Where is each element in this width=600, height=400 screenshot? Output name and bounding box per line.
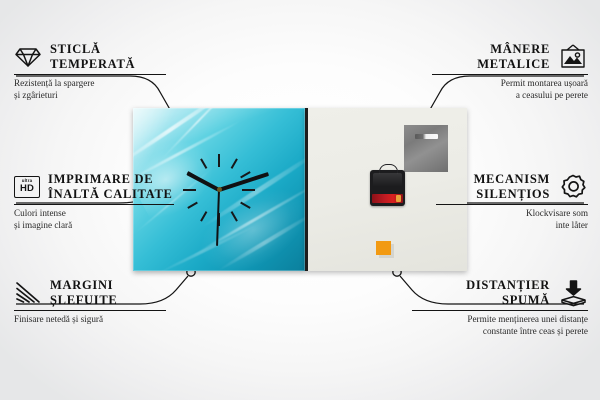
callout-title: MÂNERE METALICE (477, 42, 550, 71)
ultra-hd-badge-icon: ultra HD (14, 176, 40, 198)
callout-rule (436, 204, 588, 205)
callout-subtitle: Rezistență la spargere și zgârieturi (14, 78, 166, 101)
callout-title-line2: ȘLEFUITE (50, 293, 117, 308)
hanging-picture-frame-icon (558, 44, 588, 70)
infographic-canvas: STICLĂ TEMPERATĂ Rezistență la spargere … (0, 0, 600, 400)
callout-rule (412, 310, 588, 311)
clock-mechanism (370, 170, 405, 206)
callout-title-line1: MECANISM (474, 172, 550, 187)
callout-sticla-temperata: STICLĂ TEMPERATĂ Rezistență la spargere … (14, 42, 166, 101)
battery-terminal (396, 195, 401, 202)
callout-rule (14, 74, 166, 75)
diamond-icon (14, 45, 42, 69)
gear-icon (558, 173, 588, 201)
callout-title-line2: SPUMĂ (466, 293, 550, 308)
callout-title-line1: STICLĂ (50, 42, 135, 57)
callout-title-line1: MARGINI (50, 278, 117, 293)
callout-manere-metalice: MÂNERE METALICE Permit montarea ușoară a… (432, 42, 588, 101)
callout-title: DISTANȚIER SPUMĂ (466, 278, 550, 307)
product-image (133, 108, 467, 271)
callout-distantier-spuma: DISTANȚIER SPUMĂ Permite menținerea unei… (412, 278, 588, 337)
callout-header: DISTANȚIER SPUMĂ (412, 278, 588, 307)
callout-header: ultra HD IMPRIMARE DE ÎNALTĂ CALITATE (14, 172, 174, 201)
callout-title: IMPRIMARE DE ÎNALTĂ CALITATE (48, 172, 173, 201)
callout-imprimare-calitate: ultra HD IMPRIMARE DE ÎNALTĂ CALITATE Cu… (14, 172, 174, 231)
callout-title-line2: METALICE (477, 57, 550, 72)
foam-spacer (376, 241, 391, 255)
callout-title: MECANISM SILENȚIOS (474, 172, 550, 201)
hanger-slot (415, 134, 438, 139)
callout-mecanism-silentios: MECANISM SILENȚIOS Klockvisare som inte … (436, 172, 588, 231)
callout-subtitle: Finisare netedă și sigură (14, 314, 166, 325)
callout-subtitle: Permit montarea ușoară a ceasului pe per… (432, 78, 588, 101)
callout-subtitle: Permite menținerea unei distanțe constan… (412, 314, 588, 337)
callout-rule (432, 74, 588, 75)
metal-hanger-bracket (404, 125, 448, 172)
callout-title-line2: SILENȚIOS (474, 187, 550, 202)
hatch-lines-icon (14, 281, 42, 305)
callout-header: MÂNERE METALICE (432, 42, 588, 71)
mechanism-highlight (373, 173, 402, 187)
callout-title: MARGINI ȘLEFUITE (50, 278, 117, 307)
hd-badge-large-label: HD (20, 184, 34, 194)
callout-title-line1: DISTANȚIER (466, 278, 550, 293)
arrow-down-onto-pad-icon (558, 279, 588, 307)
callout-header: MECANISM SILENȚIOS (436, 172, 588, 201)
callout-margini-slefuite: MARGINI ȘLEFUITE Finisare netedă și sigu… (14, 278, 166, 326)
callout-rule (14, 204, 174, 205)
callout-title-line2: ÎNALTĂ CALITATE (48, 187, 173, 202)
callout-title-line2: TEMPERATĂ (50, 57, 135, 72)
callout-subtitle: Klockvisare som inte låter (436, 208, 588, 231)
callout-title: STICLĂ TEMPERATĂ (50, 42, 135, 71)
callout-header: MARGINI ȘLEFUITE (14, 278, 166, 307)
callout-header: STICLĂ TEMPERATĂ (14, 42, 166, 71)
callout-title-line1: MÂNERE (477, 42, 550, 57)
clock-center-cap (217, 187, 222, 192)
callout-rule (14, 310, 166, 311)
callout-subtitle: Culori intense și imagine clară (14, 208, 174, 231)
callout-title-line1: IMPRIMARE DE (48, 172, 173, 187)
battery (372, 194, 403, 203)
